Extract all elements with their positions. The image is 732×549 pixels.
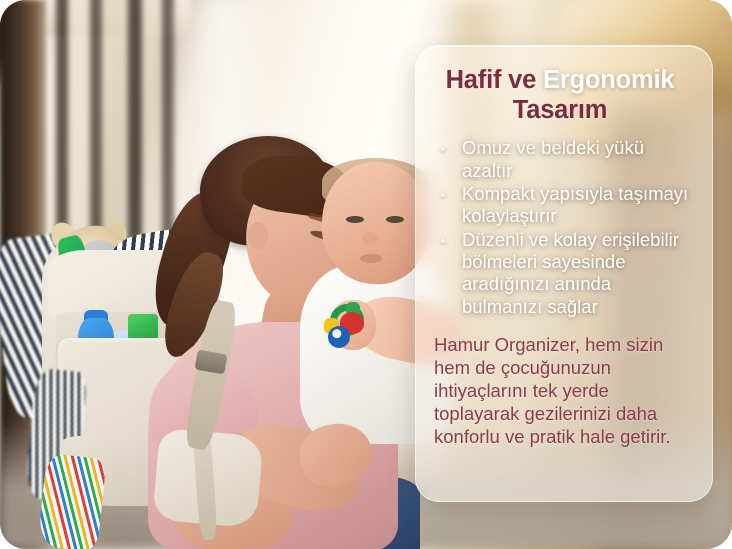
feature-list: Omuz ve beldeki yükü azaltır Kompakt yap…: [424, 137, 696, 318]
card-title: Hafif ve Ergonomik Tasarım: [424, 66, 696, 125]
card-title-part-3: Tasarım: [513, 96, 608, 124]
card-paragraph: Hamur Organizer, hem sizin hem de çocuğu…: [434, 334, 692, 449]
photo-rainbow-cloth: [37, 453, 106, 549]
photo-baby-mouth: [360, 254, 382, 263]
photo-toy-blue-ball: [328, 326, 350, 348]
photo-mother-ear: [248, 222, 268, 250]
photo-baby-eye-right: [386, 216, 404, 223]
card-title-part-2: Ergonomik: [543, 66, 674, 94]
photo-baby-eye-left: [346, 216, 364, 223]
card-title-part-1: Hafif ve: [446, 66, 543, 94]
list-item: Kompakt yapısıyla taşımayı kolaylaştırır: [432, 183, 692, 228]
photo-baby-nose: [362, 232, 378, 246]
list-item: Düzenli ve kolay erişilebilir bölmeleri …: [432, 229, 692, 319]
promo-banner: Hafif ve Ergonomik Tasarım Omuz ve belde…: [0, 0, 732, 549]
list-item: Omuz ve beldeki yükü azaltır: [432, 137, 692, 182]
info-card: Hafif ve Ergonomik Tasarım Omuz ve belde…: [415, 45, 713, 502]
photo-green-box: [128, 314, 158, 340]
